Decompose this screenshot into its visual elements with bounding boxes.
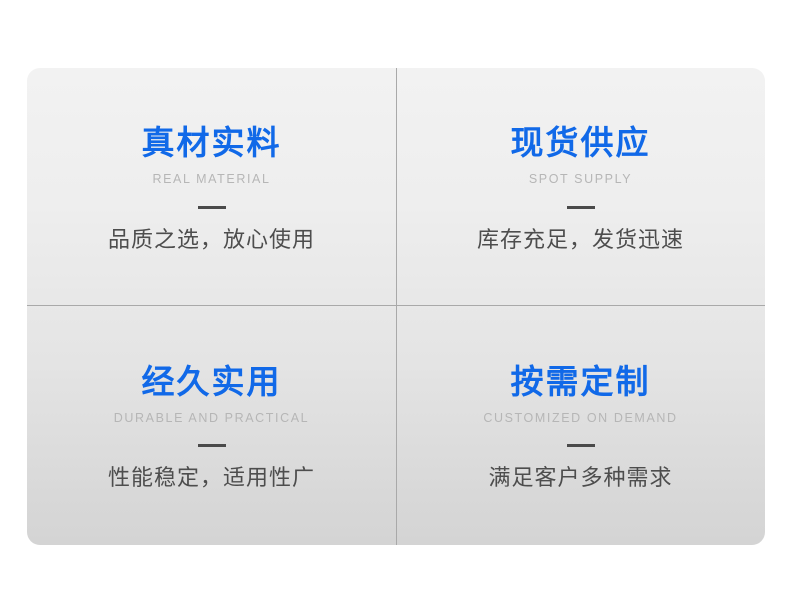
feature-subtitle: SPOT SUPPLY xyxy=(529,173,632,186)
feature-title: 按需定制 xyxy=(511,365,651,398)
divider-dash xyxy=(567,206,595,209)
feature-subtitle: CUSTOMIZED ON DEMAND xyxy=(483,412,677,425)
feature-description: 库存充足，发货迅速 xyxy=(477,229,684,251)
feature-cell-spot-supply: 现货供应 SPOT SUPPLY 库存充足，发货迅速 xyxy=(396,68,765,307)
feature-description: 满足客户多种需求 xyxy=(488,467,672,489)
feature-subtitle: REAL MATERIAL xyxy=(152,173,270,186)
divider-dash xyxy=(198,206,226,209)
feature-title: 现货供应 xyxy=(511,126,651,159)
feature-description: 品质之选，放心使用 xyxy=(108,229,315,251)
feature-grid-panel: 真材实料 REAL MATERIAL 品质之选，放心使用 现货供应 SPOT S… xyxy=(27,68,765,545)
divider-dash xyxy=(198,444,226,447)
feature-cell-customized-on-demand: 按需定制 CUSTOMIZED ON DEMAND 满足客户多种需求 xyxy=(396,307,765,546)
feature-title: 经久实用 xyxy=(142,365,282,398)
feature-title: 真材实料 xyxy=(142,126,282,159)
page-root: 真材实料 REAL MATERIAL 品质之选，放心使用 现货供应 SPOT S… xyxy=(0,0,790,616)
grid-divider-vertical xyxy=(396,68,397,545)
feature-description: 性能稳定，适用性广 xyxy=(108,467,315,489)
grid-divider-horizontal xyxy=(27,305,765,306)
feature-cell-real-material: 真材实料 REAL MATERIAL 品质之选，放心使用 xyxy=(27,68,396,307)
divider-dash xyxy=(567,444,595,447)
feature-subtitle: DURABLE AND PRACTICAL xyxy=(114,412,309,425)
feature-cell-durable-practical: 经久实用 DURABLE AND PRACTICAL 性能稳定，适用性广 xyxy=(27,307,396,546)
